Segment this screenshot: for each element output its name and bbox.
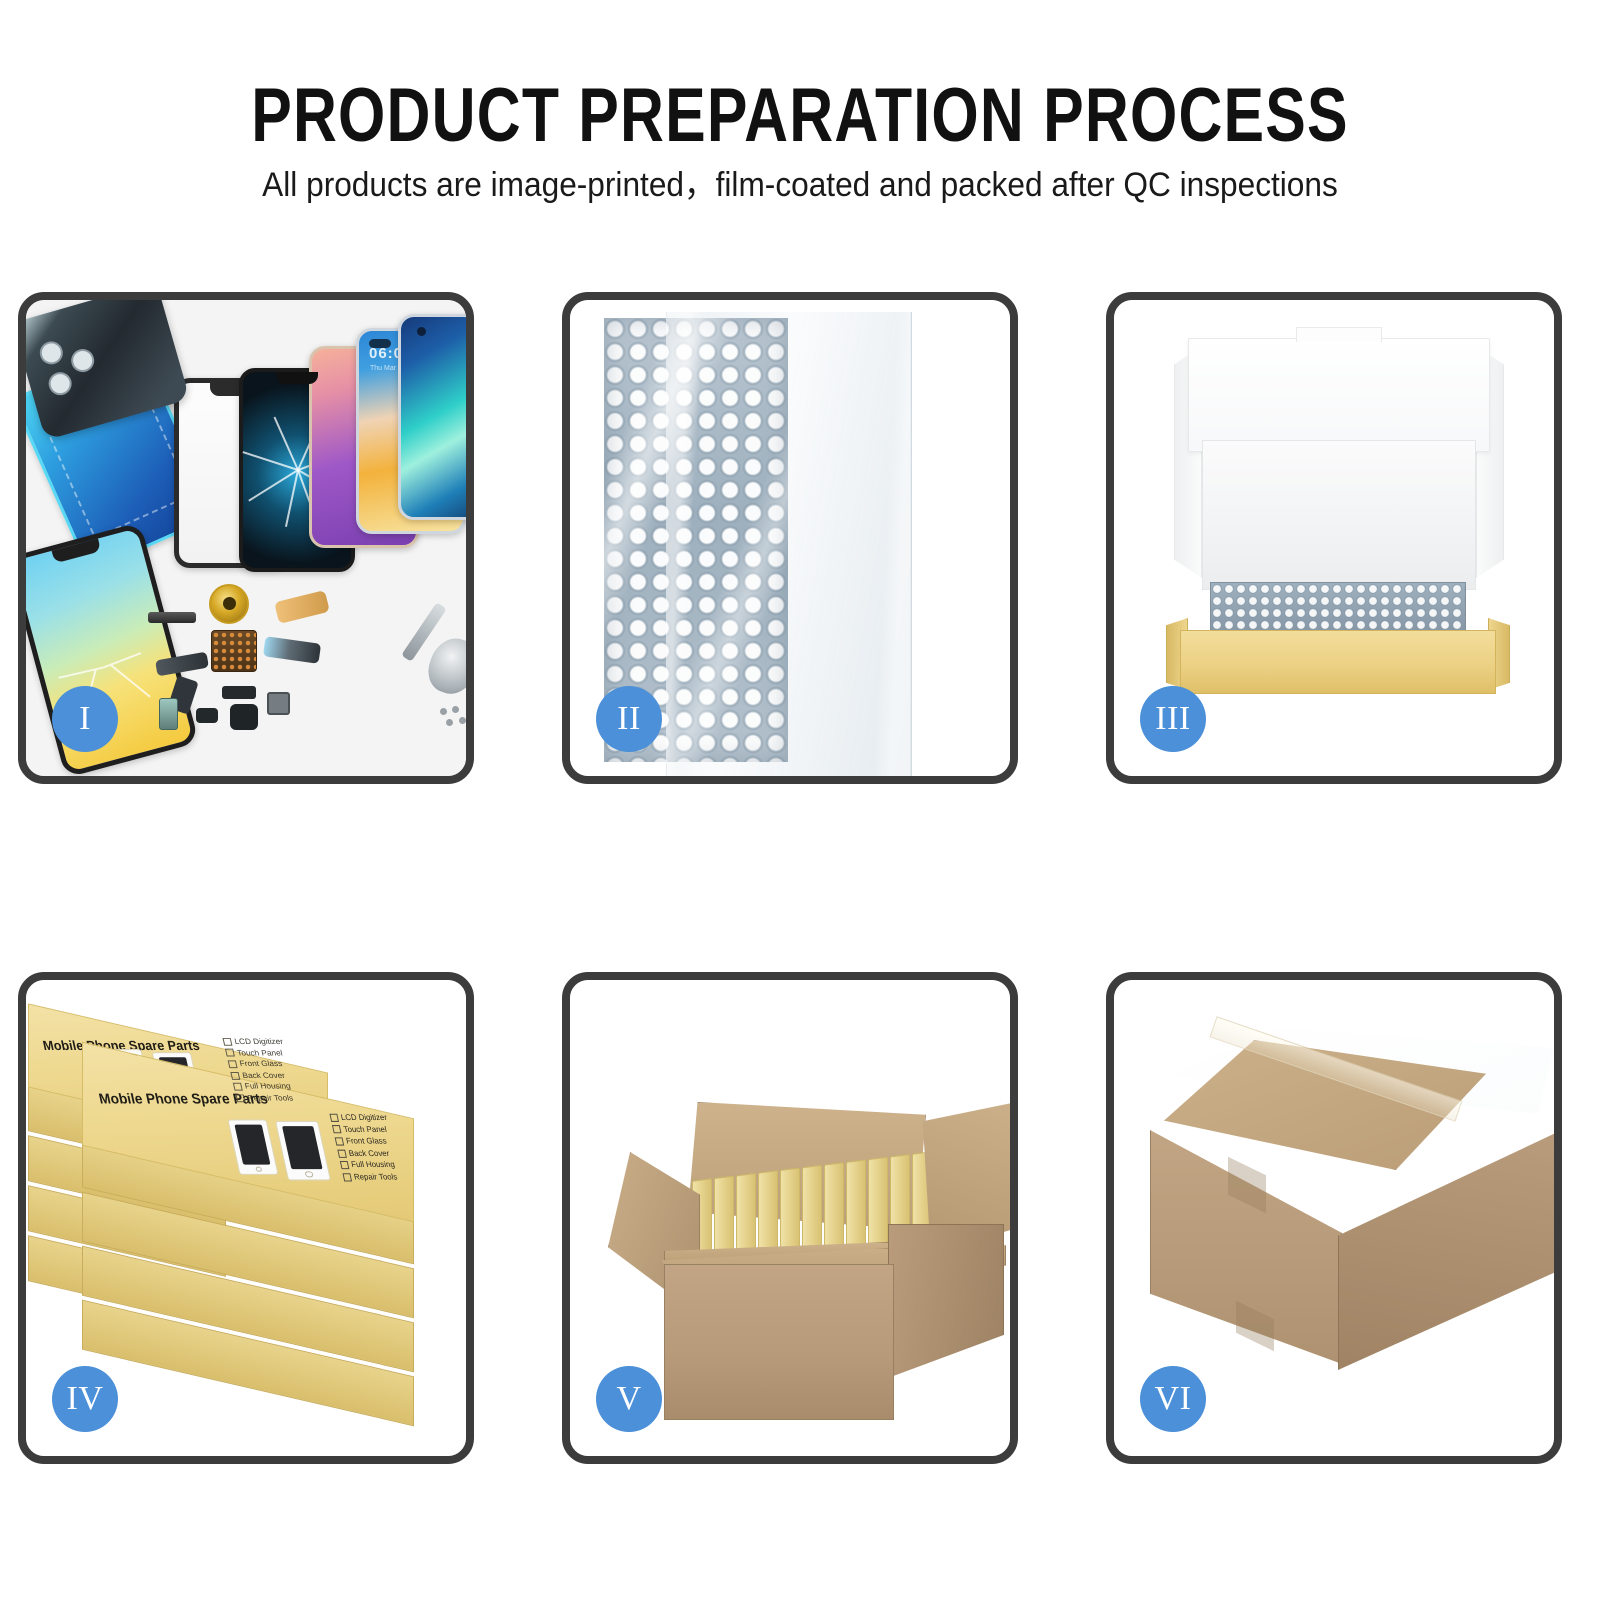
step-panel-4[interactable]: Mobile Phone Spare Parts Mobile Phone Sp… [18,972,474,1464]
step-badge-6: VI [1140,1366,1206,1432]
checklist-item: Back Cover [230,1070,292,1081]
page-subtitle: All products are image-printed，film-coat… [56,168,1544,202]
button-part-image [196,708,218,723]
step-panel-2[interactable]: II [562,292,1018,784]
checklist-item: Back Cover [337,1147,396,1159]
checklist-item: Touch Panel [332,1124,391,1136]
retail-box-phone-thumb [275,1121,331,1181]
checklist-item: Front Glass [334,1135,393,1147]
step-panel-1[interactable]: 06:08 Thu Mar 25 [18,292,474,784]
step-badge-3: III [1140,686,1206,752]
screws-image [440,706,466,732]
checklist-item: Touch Panel [225,1047,287,1058]
flex-cable-a-image [274,590,330,624]
flex-cable-b-image [263,636,321,664]
checklist-item: LCD Digitizer [222,1036,284,1047]
teal-gradient-phone-image [398,314,466,520]
camera-module-image [230,704,258,730]
step-badge-1: I [52,686,118,752]
checklist-item: Repair Tools [342,1171,401,1183]
checklist-item: Front Glass [227,1059,289,1070]
mailer-box-front-panel [1180,630,1496,694]
coil-part-image [267,692,290,715]
step-panel-3[interactable]: III [1106,292,1562,784]
small-chip-image [222,686,256,699]
carton-front-panel [664,1264,894,1420]
step-badge-5: V [596,1366,662,1432]
sealed-carton-right-panel [1338,1130,1554,1370]
checklist-item: LCD Digitizer [329,1112,388,1124]
mailer-box-interior-back [1202,440,1476,590]
earpiece-part-image [148,612,196,623]
carton-right-side [888,1224,1004,1378]
sim-tray-image [159,698,178,730]
step-badge-4: IV [52,1366,118,1432]
retail-box-phone-thumb [227,1119,278,1174]
step-panel-5[interactable]: V [562,972,1018,1464]
retail-box-checklist: LCD Digitizer Touch Panel Front Glass Ba… [329,1112,401,1183]
broken-yellow-screen-phone-image [26,522,199,776]
page-title: PRODUCT PREPARATION PROCESS [160,78,1440,154]
step-panel-6[interactable]: VI [1106,972,1562,1464]
cleaning-brush-image [422,632,466,700]
bubble-wrapped-contents [1210,582,1466,636]
mailer-box-lid-tab [1296,327,1382,342]
ic-chip-image [211,630,257,672]
speaker-part-image [209,584,249,624]
header: PRODUCT PREPARATION PROCESS All products… [0,0,1600,250]
step-badge-2: II [596,686,662,752]
checklist-item: Full Housing [339,1159,398,1171]
bubble-wrap-fold-edges [666,312,910,776]
checklist-item: Repair Tools [235,1092,297,1103]
mailer-box-lid [1188,338,1490,452]
checklist-item: Full Housing [232,1081,294,1092]
